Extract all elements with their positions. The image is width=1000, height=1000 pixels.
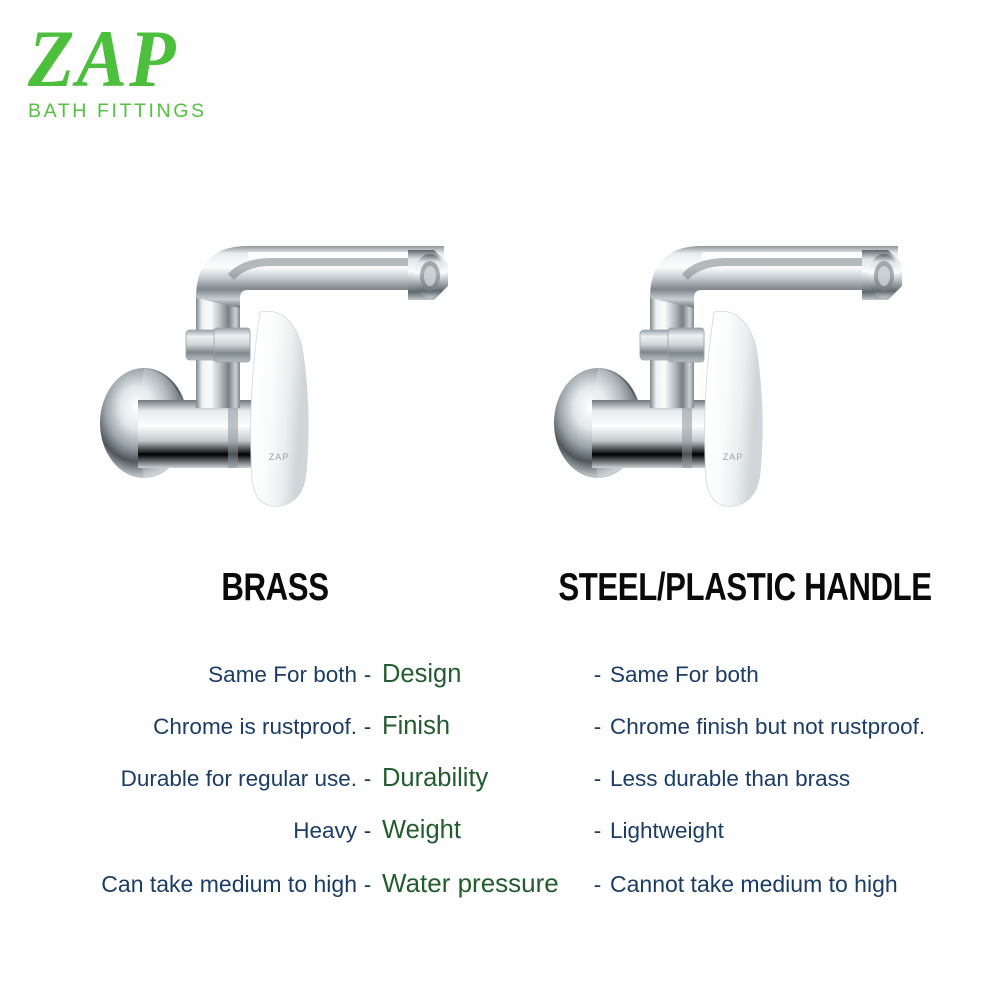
separator-dash: - [590, 662, 605, 688]
steel-plastic-value: Same For both [605, 662, 1000, 688]
comparison-row: Can take medium to high - Water pressure… [0, 868, 1000, 920]
attribute-label: Design [375, 660, 590, 689]
product-comparison-page: { "brand": { "name": "ZAP", "tagline": "… [0, 0, 1000, 1000]
separator-dash: - [590, 818, 605, 844]
brass-value: Same For both [0, 662, 360, 688]
product-image-brass: ZAP [78, 178, 498, 518]
brass-value: Can take medium to high [0, 871, 360, 898]
brass-value: Chrome is rustproof. [0, 714, 360, 740]
brand-name: ZAP [18, 20, 258, 98]
separator-dash: - [360, 766, 375, 792]
brand-logo: ZAP BATH FITTINGS [18, 20, 258, 123]
brass-value: Heavy [0, 818, 360, 844]
separator-dash: - [360, 714, 375, 740]
product-heading-steel-plastic: STEEL/PLASTIC HANDLE [545, 566, 945, 610]
steel-plastic-value: Cannot take medium to high [605, 871, 1000, 898]
product-image-steel-plastic: ZAP [532, 178, 952, 518]
separator-dash: - [590, 872, 605, 898]
comparison-row: Durable for regular use. - Durability - … [0, 764, 1000, 816]
separator-dash: - [590, 766, 605, 792]
comparison-table: Same For both - Design - Same For both C… [0, 660, 1000, 920]
attribute-label: Weight [375, 816, 590, 845]
separator-dash: - [360, 818, 375, 844]
attribute-label: Finish [375, 712, 590, 741]
product-heading-brass: BRASS [115, 566, 435, 610]
handle-brand-mark: ZAP [723, 452, 744, 462]
coupling-nut-2 [214, 328, 250, 362]
coupling-nut-2 [668, 328, 704, 362]
separator-dash: - [360, 872, 375, 898]
attribute-label: Durability [375, 764, 590, 793]
comparison-row: Heavy - Weight - Lightweight [0, 816, 1000, 868]
faucet-illustration: ZAP [532, 178, 952, 518]
comparison-row: Chrome is rustproof. - Finish - Chrome f… [0, 712, 1000, 764]
brass-value: Durable for regular use. [0, 766, 360, 792]
handle-brand-mark: ZAP [269, 452, 290, 462]
lever-handle [705, 311, 763, 506]
comparison-row: Same For both - Design - Same For both [0, 660, 1000, 712]
lever-handle [251, 311, 309, 506]
steel-plastic-value: Lightweight [605, 818, 1000, 844]
steel-plastic-value: Chrome finish but not rustproof. [605, 714, 1000, 740]
separator-dash: - [590, 714, 605, 740]
faucet-illustration: ZAP [78, 178, 498, 518]
attribute-label: Water pressure [375, 868, 590, 899]
steel-plastic-value: Less durable than brass [605, 766, 1000, 792]
separator-dash: - [360, 662, 375, 688]
